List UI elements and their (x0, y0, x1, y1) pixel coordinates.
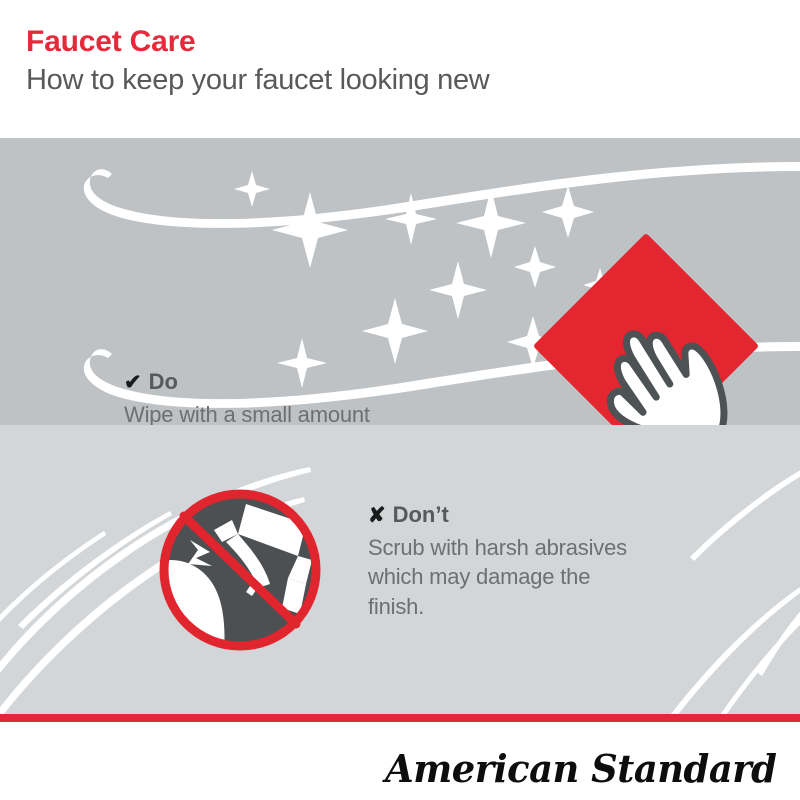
sparkle-icon (514, 246, 556, 288)
no-scrubbing-prohibition-icon (156, 490, 320, 654)
streaks-right-group (648, 467, 800, 714)
dont-panel: ✘Don’t Scrub with harsh abrasives which … (0, 425, 800, 714)
sparkle-icon (542, 186, 594, 238)
do-body-text: Wipe with a small amount of water and a … (124, 400, 374, 425)
red-divider (0, 714, 800, 722)
cross-icon: ✘ (368, 504, 386, 527)
faucet-care-infographic: Faucet Care How to keep your faucet look… (0, 0, 800, 800)
do-callout: ✔Do Wipe with a small amount of water an… (124, 370, 374, 425)
dont-callout: ✘Don’t Scrub with harsh abrasives which … (368, 503, 638, 621)
dont-body-text: Scrub with harsh abrasives which may dam… (368, 533, 638, 621)
do-heading: ✔Do (124, 370, 374, 394)
dont-heading: ✘Don’t (368, 503, 638, 527)
sparkle-icon (272, 192, 348, 268)
do-panel: ✔Do Wipe with a small amount of water an… (0, 138, 800, 425)
swoosh-upper-icon (84, 162, 800, 228)
hand-wiping-cloth-icon (533, 233, 759, 425)
footer: American Standard (0, 722, 800, 800)
do-panel-graphics (0, 138, 800, 425)
check-icon: ✔ (124, 371, 142, 394)
sparkle-icon (234, 171, 270, 207)
sparkle-icon (429, 261, 487, 319)
page-subtitle: How to keep your faucet looking new (26, 62, 800, 98)
american-standard-logo: American Standard (385, 746, 776, 791)
page-title: Faucet Care (26, 26, 800, 58)
do-heading-label: Do (149, 369, 178, 394)
sparkle-icon (362, 298, 428, 364)
header: Faucet Care How to keep your faucet look… (0, 0, 800, 138)
dont-heading-label: Don’t (393, 502, 449, 527)
streak-icon (690, 467, 800, 561)
